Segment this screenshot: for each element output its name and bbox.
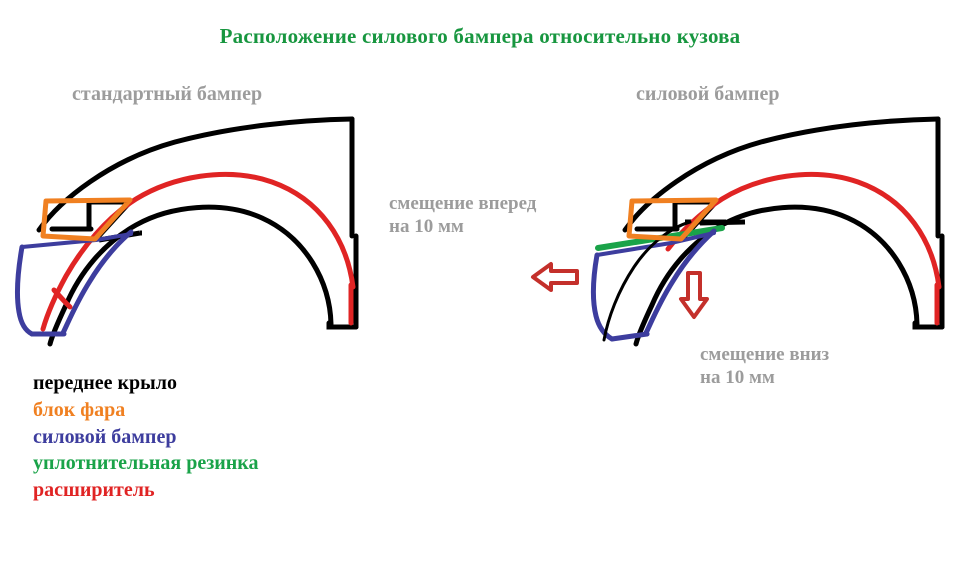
left-front-fender — [34, 119, 356, 344]
right-sealing-rubber — [598, 228, 722, 248]
legend-item: силовой бампер — [33, 424, 433, 451]
annotation-shift-forward-line2: на 10 мм — [389, 215, 536, 238]
right-headlight-block — [629, 200, 716, 239]
arrow-down-icon — [681, 273, 707, 317]
left-power-bumper — [18, 232, 138, 334]
legend-item: переднее крыло — [33, 370, 433, 397]
arrow-left-icon — [533, 264, 577, 290]
right-front-fender — [625, 119, 942, 344]
annotation-shift-down-line1: смещение вниз — [700, 343, 829, 366]
annotation-shift-down-line2: на 10 мм — [700, 366, 829, 389]
page-title: Расположение силового бампера относитель… — [0, 24, 960, 50]
label-power-bumper: силовой бампер — [636, 82, 779, 106]
diagram-canvas: Расположение силового бампера относитель… — [0, 0, 960, 565]
annotation-shift-forward: смещение вперед на 10 мм — [389, 192, 536, 238]
legend-item: блок фара — [33, 397, 433, 424]
legend-item: уплотнительная резинка — [33, 450, 433, 477]
legend: переднее крылоблок фарасиловой бамперупл… — [33, 370, 433, 504]
left-extender — [43, 174, 353, 329]
legend-item: расширитель — [33, 477, 433, 504]
left-extender-tail — [54, 290, 70, 307]
left-headlight-block — [43, 200, 131, 240]
label-standard-bumper: стандартный бампер — [72, 82, 262, 106]
annotation-shift-forward-line1: смещение вперед — [389, 192, 536, 215]
right-extender — [668, 174, 939, 323]
right-power-bumper — [593, 222, 714, 340]
annotation-shift-down: смещение вниз на 10 мм — [700, 343, 829, 389]
